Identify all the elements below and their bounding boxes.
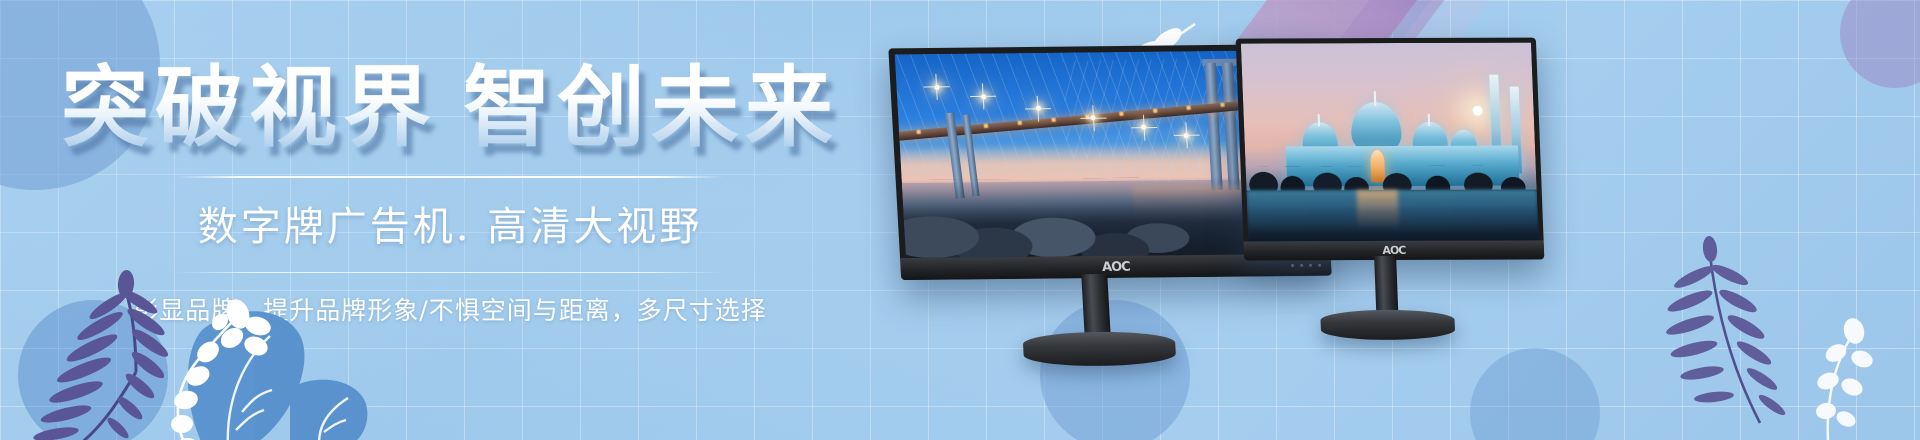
monitor-stand-neck [1374,256,1398,318]
subheadline: 数字牌广告机. 高清大视野 [0,194,900,252]
monitor-bezel: AOC [1236,38,1545,261]
monitor-stand-neck [1081,274,1111,340]
divider-lower [176,272,724,273]
botanical-decoration-right [1590,215,1890,440]
flower-stem-icon [1815,316,1875,440]
decor-circle-center [1040,300,1190,440]
mosque-spire-b [1318,115,1320,127]
aoc-logo: AOC [1102,259,1131,274]
light-flare-icon [934,84,939,89]
decor-circle-bottom-right [1470,348,1600,440]
light-flare-icon [1184,133,1189,138]
tagline: 彰显品牌，提升品牌形象/不惧空间与距离，多尺寸选择 [0,291,900,327]
mosque-warm-reflection [1357,189,1399,229]
headline-part-1: 突破视界 [61,56,437,159]
mosque-spire-c [1428,114,1430,126]
light-flare-icon [1036,106,1041,111]
product-monitor-right[interactable]: AOC [1236,38,1545,261]
sun-flare-icon [1473,106,1483,116]
monitor-screen-mosque [1241,43,1539,242]
mosque-scene [1241,43,1539,242]
decor-circle-top-right [1840,0,1920,88]
light-flare-icon [981,94,986,99]
monitor-stand-base [1022,331,1176,367]
page-title: 突破视界智创未来 [0,62,900,154]
headline-block: 突破视界智创未来 数字牌广告机. 高清大视野 彰显品牌，提升品牌形象/不惧空间与… [0,62,900,327]
fern-frond-icon [1664,235,1787,423]
promo-banner: 突破视界智创未来 数字牌广告机. 高清大视野 彰显品牌，提升品牌形象/不惧空间与… [0,0,1920,440]
divider-upper [176,176,724,178]
monitor-stand-base [1320,310,1455,340]
monstera-leaf-icon [188,311,368,440]
mosque-spire-a [1374,91,1377,107]
headline-part-2: 智创未来 [463,56,839,159]
